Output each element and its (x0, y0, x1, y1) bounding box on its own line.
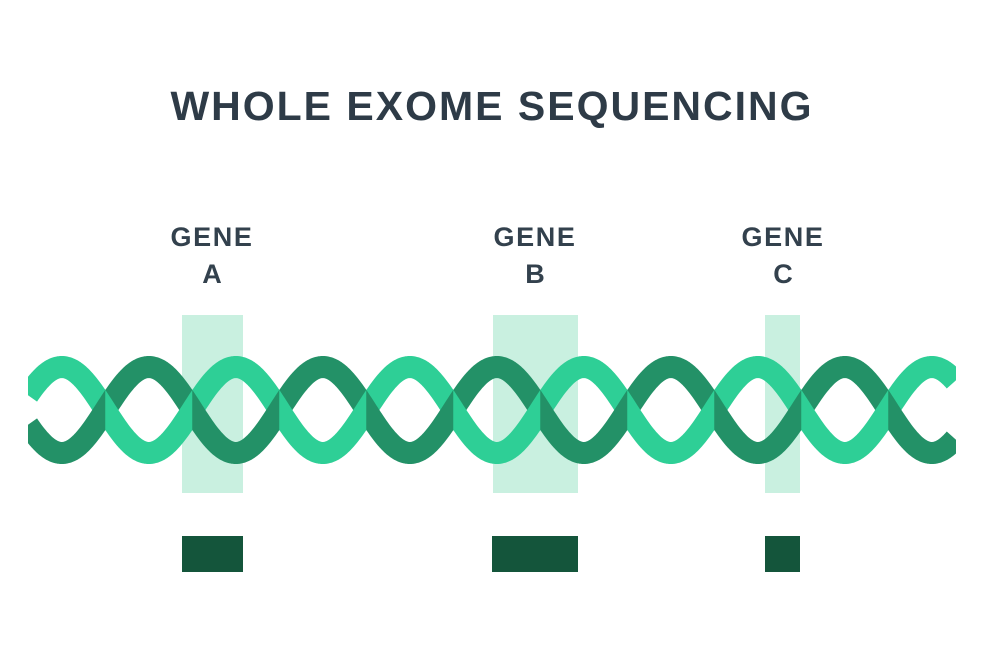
diagram-canvas: WHOLE EXOME SEQUENCING GENE A GENE B GEN… (0, 0, 984, 656)
gene-label-a-line1: GENE (171, 222, 254, 252)
gene-label-b-line1: GENE (494, 222, 577, 252)
gene-label-c-line1: GENE (742, 222, 825, 252)
exon-bar-gene-c (765, 536, 800, 572)
gene-label-b: GENE B (455, 219, 615, 293)
highlight-band-gene-c (765, 315, 800, 493)
page-title: WHOLE EXOME SEQUENCING (0, 83, 984, 130)
gene-label-c: GENE C (703, 219, 863, 293)
gene-label-a: GENE A (132, 219, 292, 293)
gene-label-c-line2: C (703, 256, 863, 293)
exon-bar-gene-a (182, 536, 243, 572)
gene-label-b-line2: B (455, 256, 615, 293)
highlight-band-gene-a (182, 315, 243, 493)
gene-label-a-line2: A (132, 256, 292, 293)
highlight-band-gene-b (493, 315, 578, 493)
exon-bar-gene-b (492, 536, 578, 572)
